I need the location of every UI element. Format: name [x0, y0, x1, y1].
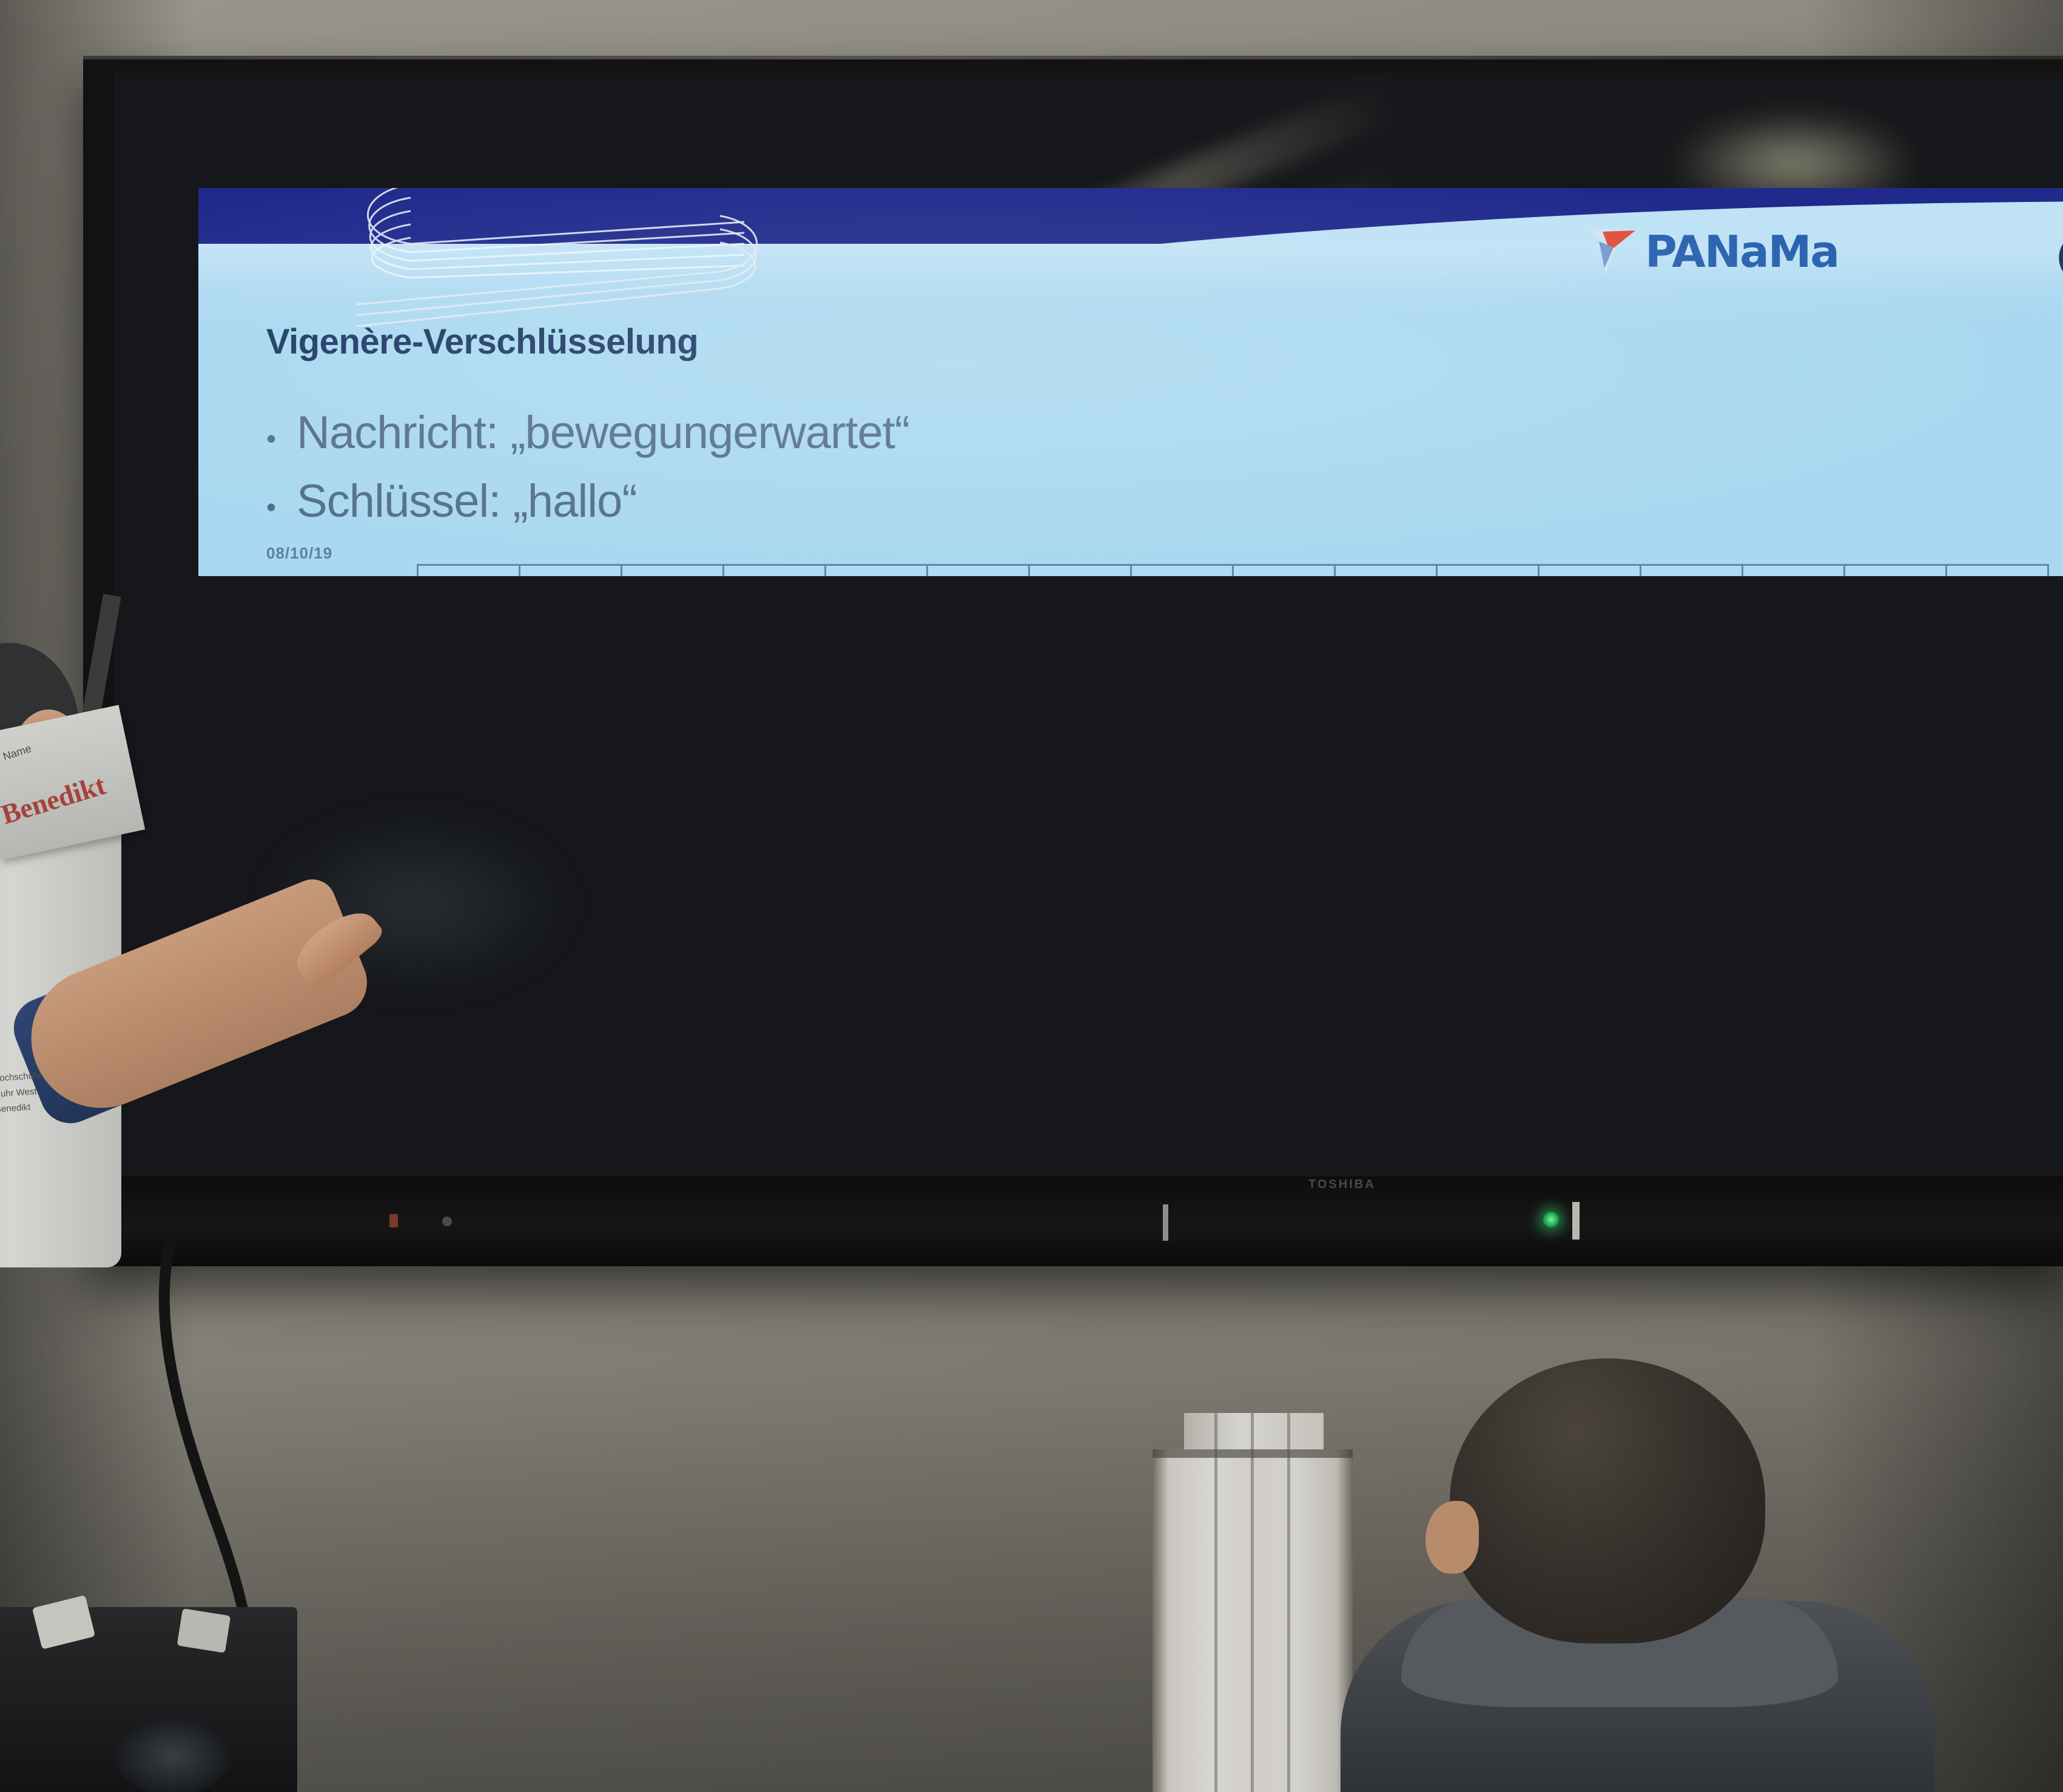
bullet-marker-icon: • — [266, 493, 297, 521]
message-cell: t — [1947, 565, 2048, 577]
stand-rib — [1214, 1413, 1217, 1792]
slide-title: Vigenère-Verschlüsselung — [266, 321, 698, 362]
message-cell: g — [1131, 565, 1233, 577]
message-cell: a — [1539, 565, 1641, 577]
label-nachricht: Nachricht: — [259, 568, 417, 576]
message-cell: u — [927, 565, 1029, 577]
classroom-photo-scene: Newline — [0, 0, 2063, 1792]
message-cell: e — [1845, 565, 1947, 577]
message-cell: r — [1641, 565, 1743, 577]
cipher-message-row: bewegungerwartet — [418, 565, 2048, 577]
presenter-shirt-text: HochschuleRuhr WestBenedikt — [0, 1064, 104, 1118]
power-led-icon — [1543, 1212, 1559, 1227]
display-bezel-top — [83, 56, 2063, 59]
audience-ear — [1425, 1501, 1479, 1574]
bullet-item: • Nachricht: „bewegungerwartet“ — [266, 406, 1722, 459]
bullet-text: Nachricht: „bewegungerwartet“ — [297, 406, 909, 459]
bezel-indicator-slot — [1572, 1202, 1580, 1240]
message-cell: b — [418, 565, 520, 577]
message-cell: n — [1029, 565, 1131, 577]
audience-person — [1322, 1358, 2063, 1792]
message-cell: w — [622, 565, 724, 577]
name-badge-subtitle: Name — [1, 742, 33, 763]
bullet-text: Schlüssel: „hallo“ — [297, 475, 637, 528]
cipher-row-labels: Nachricht: Schlüssel: — [259, 564, 417, 576]
display-bottom-brand-label: TOSHIBA — [1308, 1178, 1376, 1192]
foreground-disc — [115, 1716, 231, 1792]
panama-mark-icon — [1584, 226, 1640, 278]
audience-head — [1450, 1358, 1765, 1643]
message-cell: e — [724, 565, 826, 577]
bezel-indicator-slot — [1163, 1204, 1168, 1241]
message-cell: e — [520, 565, 622, 577]
stand-rib — [1287, 1413, 1290, 1792]
panama-logo: PANaMa — [1584, 226, 1839, 278]
presentation-slide: PANaMa Vigenère-Verschlüsselung • Nachri… — [198, 188, 2063, 576]
stand-rib — [1251, 1413, 1254, 1792]
name-badge-name: Benedikt — [0, 769, 109, 831]
cipher-table-block: Nachricht: Schlüssel: bewegungerwartet h… — [259, 564, 2063, 576]
message-cell: g — [826, 565, 927, 577]
cipher-table: bewegungerwartet hallo — [417, 564, 2049, 576]
message-cell: r — [1335, 565, 1437, 577]
slide-footer-date: 08/10/19 — [266, 544, 332, 563]
message-cell: t — [1743, 565, 1845, 577]
message-cell: w — [1437, 565, 1539, 577]
bullet-item: • Schlüssel: „hallo“ — [266, 475, 1722, 528]
institution-logo-icon — [2042, 224, 2063, 291]
slide-bullet-list: • Nachricht: „bewegungerwartet“ • Schlüs… — [266, 406, 1722, 543]
bullet-marker-icon: • — [266, 425, 297, 452]
message-cell: e — [1233, 565, 1335, 577]
foreground-clip — [177, 1608, 231, 1653]
panama-wordmark: PANaMa — [1645, 230, 1839, 273]
